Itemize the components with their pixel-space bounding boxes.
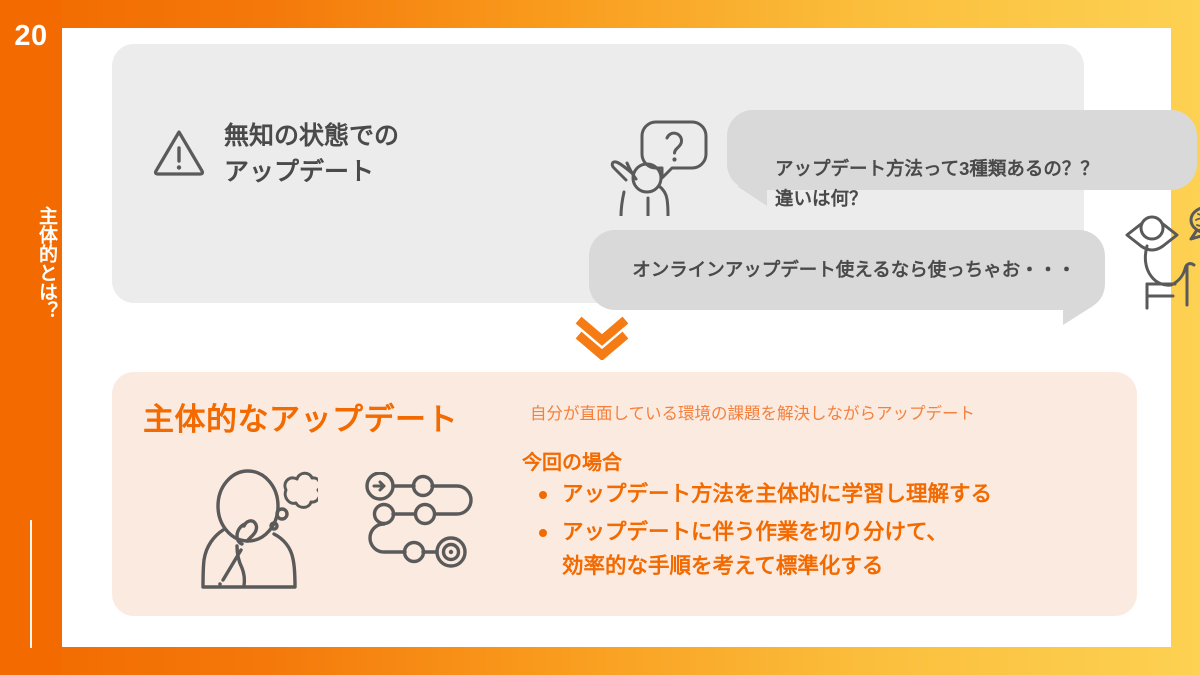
sidebar-title-wrap: 主体的とは？ (0, 74, 62, 314)
slide-number: 20 (0, 22, 62, 51)
slide-root: 20 主体的とは？ 無知の状態での アップデート (0, 0, 1200, 675)
warning-triangle-icon (152, 126, 206, 183)
solution-bullet-list: アップデート方法を主体的に学習し理解する アップデートに伴う作業を切り分けて、 … (522, 478, 992, 588)
problem-panel: 無知の状態での アップデート アップデート方法って3種類あるの？？ 違いは何？ (112, 44, 1084, 303)
speech-bubble-tail (737, 186, 767, 206)
solution-case-label: 今回の場合 (522, 446, 622, 475)
speech-bubble-shortcut-text: オンラインアップデート使えるなら使っちゃお・・・ (632, 259, 1075, 280)
confused-person-icon (610, 106, 714, 221)
list-item: アップデートに伴う作業を切り分けて、 効率的な手順を考えて標準化する (562, 516, 992, 584)
speech-bubble-shortcut: オンラインアップデート使えるなら使っちゃお・・・ (589, 230, 1105, 310)
problem-heading-text: 無知の状態での アップデート (224, 118, 399, 191)
sidebar-vertical-title: 主体的とは？ (0, 148, 62, 378)
speech-bubble-question-text: アップデート方法って3種類あるの？？ 違いは何？ (775, 158, 1099, 209)
sidebar: 20 主体的とは？ (0, 0, 62, 675)
problem-heading: 無知の状態での アップデート (152, 118, 399, 191)
roadmap-path-icon (365, 472, 481, 587)
list-item: アップデート方法を主体的に学習し理解する (562, 478, 992, 512)
solution-lead-text: 自分が直面している環境の課題を解決しながらアップデート (530, 400, 975, 424)
speech-bubble-question: アップデート方法って3種類あるの？？ 違いは何？ (727, 110, 1197, 190)
double-chevron-down-icon (574, 316, 630, 365)
thinking-person-icon (200, 464, 318, 597)
relaxed-person-icon (1105, 202, 1200, 315)
solution-title: 主体的なアップデート (143, 394, 458, 439)
speech-bubble-tail (1063, 306, 1093, 325)
solution-panel: 主体的なアップデート 自分が直面している環境の課題を解決しながらアップデート 今… (112, 372, 1137, 616)
sidebar-rule (30, 520, 32, 648)
